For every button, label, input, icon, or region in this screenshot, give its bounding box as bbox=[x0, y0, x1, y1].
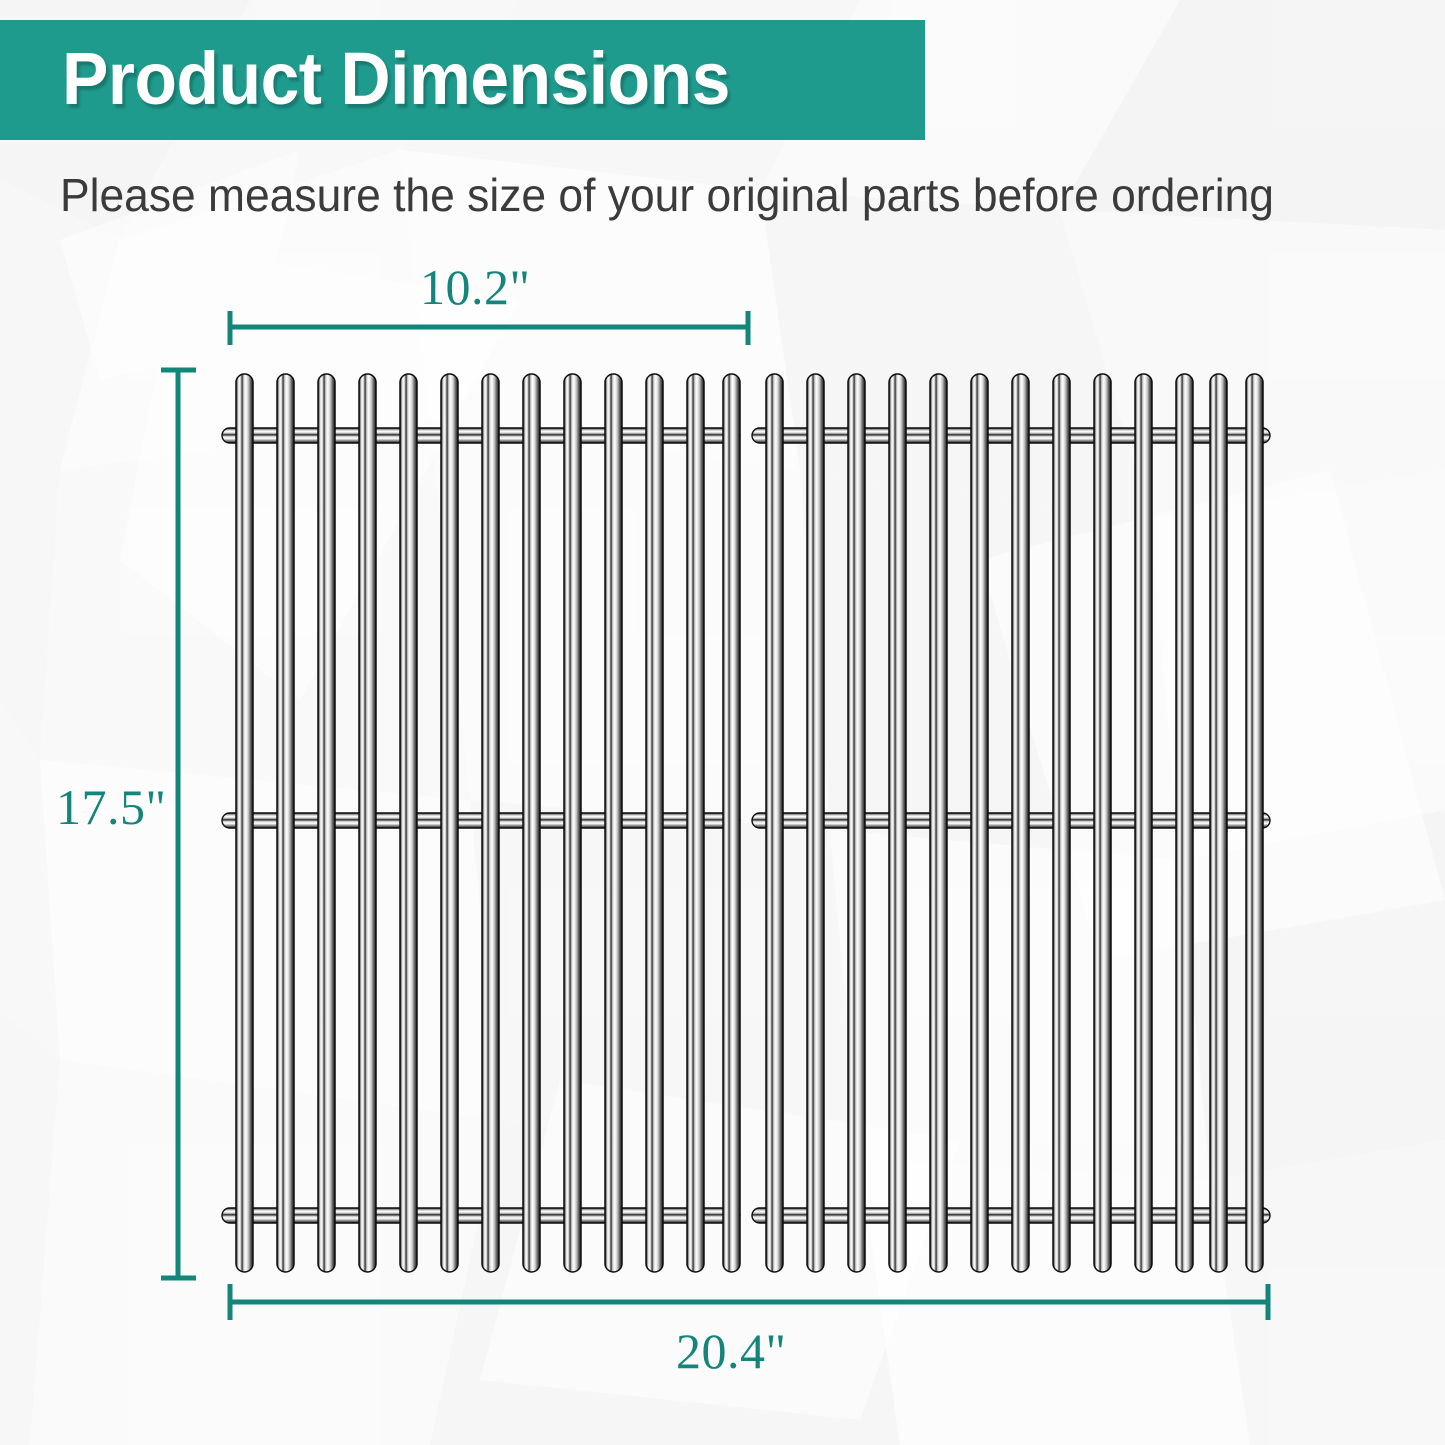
page-title: Product Dimensions bbox=[62, 36, 730, 121]
dimension-label-top-width: 10.2" bbox=[420, 258, 530, 316]
product-dimensions-infographic: Product Dimensions Please measure the si… bbox=[0, 0, 1445, 1445]
header-banner: Product Dimensions bbox=[0, 20, 925, 140]
dimension-label-bottom-width: 20.4" bbox=[676, 1322, 786, 1380]
cross-bars bbox=[222, 428, 1270, 1223]
dimension-label-left-height: 17.5" bbox=[56, 778, 166, 836]
subtitle-instruction: Please measure the size of your original… bbox=[60, 168, 1334, 222]
